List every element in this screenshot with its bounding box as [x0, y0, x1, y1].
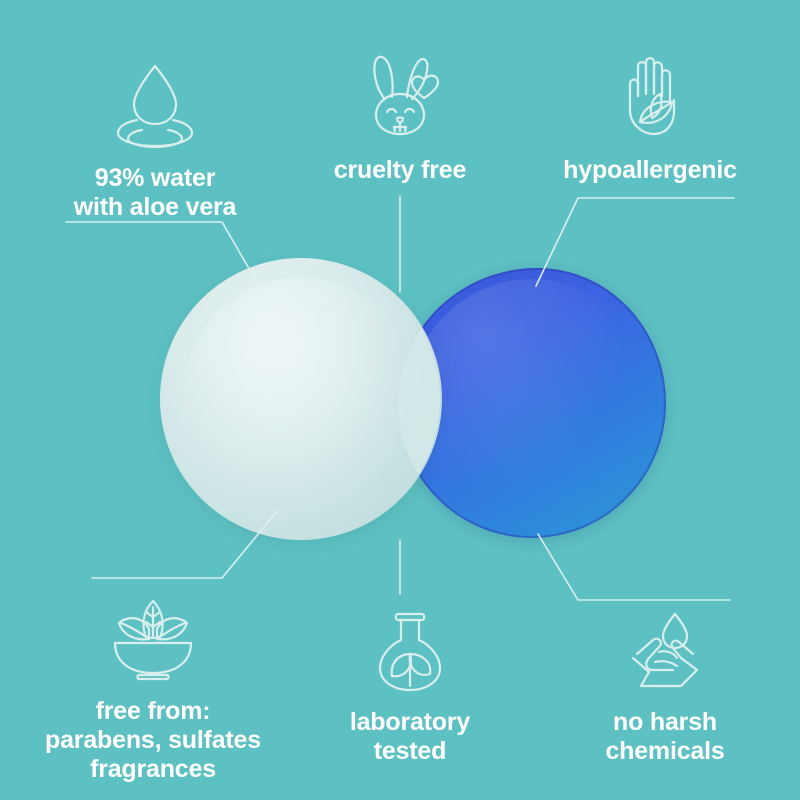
- feature-cruelty-free: cruelty free: [275, 50, 525, 185]
- feature-water: 93% water with aloe vera: [30, 58, 280, 222]
- feature-label: free from: parabens, sulfates fragrances: [45, 697, 261, 784]
- hand-leaf-icon: [604, 50, 696, 142]
- product-feature-infographic: 93% water with aloe vera: [0, 0, 800, 800]
- feature-label: 93% water with aloe vera: [74, 164, 237, 222]
- reusable-pad-white: [160, 258, 442, 540]
- feature-free-from: free from: parabens, sulfates fragrances: [28, 595, 278, 784]
- feature-label: hypoallergenic: [563, 156, 737, 185]
- bowl-leaves-icon: [105, 595, 201, 683]
- feature-hypoallergenic: hypoallergenic: [525, 50, 775, 185]
- feature-laboratory-tested: laboratory tested: [285, 608, 535, 766]
- flask-leaf-icon: [370, 608, 450, 694]
- feature-label: no harsh chemicals: [605, 708, 724, 766]
- feature-label: laboratory tested: [350, 708, 470, 766]
- feature-no-harsh-chemicals: no harsh chemicals: [540, 608, 790, 766]
- washing-hands-drop-icon: [619, 608, 711, 694]
- water-drop-icon: [112, 58, 198, 150]
- bunny-heart-icon: [354, 50, 446, 142]
- feature-label: cruelty free: [334, 156, 466, 185]
